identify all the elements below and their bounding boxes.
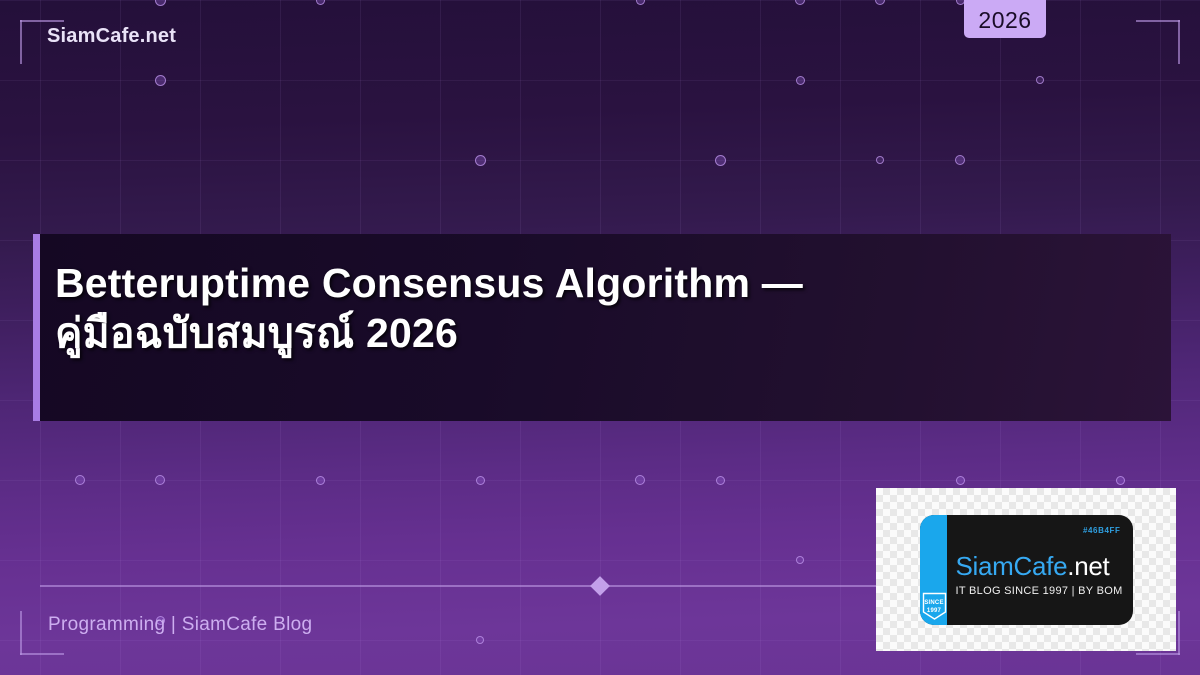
decor-node: [796, 556, 804, 564]
decor-node: [715, 155, 726, 166]
since-ribbon-icon: SINCE 1997: [922, 592, 947, 622]
ribbon-line-1: SINCE: [924, 599, 943, 607]
decor-node: [876, 156, 884, 164]
decor-node: [316, 0, 325, 5]
decor-node: [955, 155, 965, 165]
decor-node: [155, 75, 166, 86]
logo-wordmark-primary: SiamCafe: [956, 551, 1068, 581]
decor-node: [956, 476, 965, 485]
decor-node: [1036, 76, 1044, 84]
logo-card: SINCE 1997 #46B4FF SiamCafe.net IT BLOG …: [876, 488, 1176, 651]
year-badge: 2026: [964, 0, 1046, 38]
site-name: SiamCafe.net: [47, 25, 176, 48]
brand-hex-label: #46B4FF: [1083, 526, 1121, 535]
decor-node: [476, 476, 485, 485]
decor-node: [1116, 476, 1125, 485]
ribbon-line-2: 1997: [927, 607, 941, 615]
decor-node: [476, 636, 484, 644]
decor-node: [75, 475, 85, 485]
decor-node: [716, 476, 725, 485]
logo-wordmark-suffix: .net: [1067, 551, 1109, 581]
corner-bracket-top-right: [1136, 20, 1180, 64]
decor-node: [155, 475, 165, 485]
decor-node: [475, 155, 486, 166]
decor-node: [796, 76, 805, 85]
logo-tagline: IT BLOG SINCE 1997 | BY BOM: [956, 585, 1123, 597]
logo-wordmark: SiamCafe.net: [956, 551, 1110, 582]
decor-node: [316, 476, 325, 485]
decor-node: [635, 475, 645, 485]
title-accent-bar: [33, 234, 40, 421]
decor-node: [155, 0, 166, 6]
logo-inner-card: SINCE 1997 #46B4FF SiamCafe.net IT BLOG …: [920, 515, 1133, 625]
page-title: Betteruptime Consensus Algorithm — คู่มื…: [55, 258, 1145, 358]
poster-canvas: SiamCafe.net 2026 Betteruptime Consensus…: [0, 0, 1200, 675]
decor-node: [636, 0, 645, 5]
breadcrumb: Programming | SiamCafe Blog: [48, 614, 312, 636]
